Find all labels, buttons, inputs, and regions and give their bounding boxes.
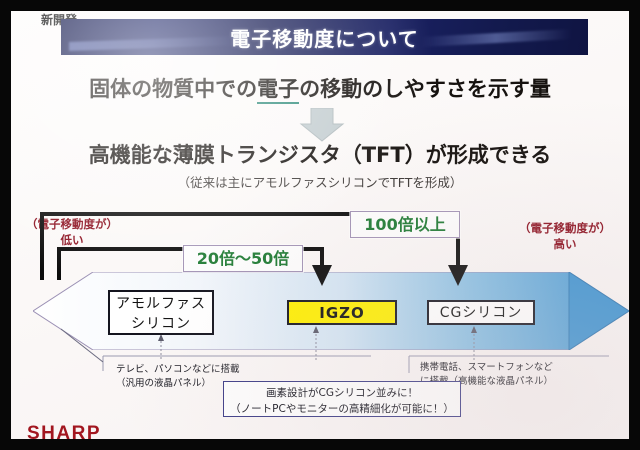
- material-box-cg-silicon[interactable]: CGシリコン: [427, 300, 535, 325]
- callout-line2: （ノートPCやモニターの高精細化が可能に！）: [224, 401, 460, 417]
- igzo-benefit-callout: 画素設計がCGシリコン並みに！ （ノートPCやモニターの高精細化が可能に！）: [223, 381, 461, 417]
- callout-line1: 画素設計がCGシリコン並みに！: [224, 385, 460, 401]
- arrowhead-igzo: [312, 265, 332, 286]
- multiplier-100-plus: 100倍以上: [350, 211, 460, 238]
- arrowhead-cg: [448, 265, 468, 286]
- presentation-slide: 電子移動度について 固体の物質中での電子の移動のしやすさを示す量 高機能な薄膜ト…: [11, 11, 629, 439]
- material-box-igzo[interactable]: IGZO: [287, 300, 397, 325]
- caption-right-line1: 携帯電話、スマートフォンなど: [420, 361, 595, 375]
- projected-screen: 電子移動度について 固体の物質中での電子の移動のしやすさを示す量 高機能な薄膜ト…: [0, 0, 640, 450]
- material-box-amorphous-silicon[interactable]: アモルファス シリコン: [108, 290, 214, 335]
- caption-left-line1: テレビ、パソコンなどに搭載: [116, 363, 291, 377]
- sharp-logo: SHARP: [27, 423, 101, 439]
- material-amorphous-line2: シリコン: [110, 314, 212, 334]
- multiplier-20-to-50: 20倍～50倍: [183, 245, 303, 272]
- material-amorphous-line1: アモルファス: [110, 294, 212, 314]
